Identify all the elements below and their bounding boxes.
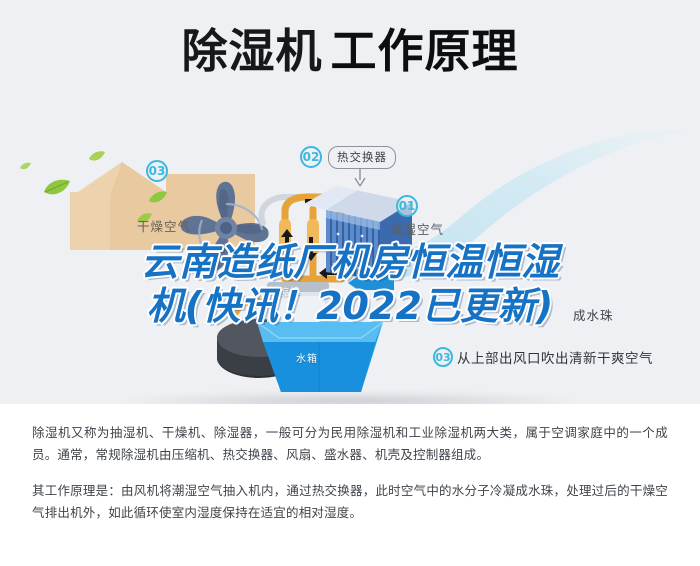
leaf-icon — [20, 162, 32, 171]
leaf-icon — [42, 178, 72, 198]
air-intake-arrow-icon — [348, 272, 394, 294]
step-badge-03-outlet: 03 — [433, 347, 453, 367]
step-badge-03-dry-air: 03 — [146, 160, 168, 182]
leaf-icon — [148, 190, 168, 205]
leaf-icon — [88, 150, 106, 163]
step-badge-01: 01 — [396, 195, 418, 217]
dry-air-label: 干燥空气 — [137, 216, 191, 235]
paragraph-definition: 除湿机又称为抽湿机、干燥机、除湿器，一般可分为民用除湿机和工业除湿机两大类，属于… — [32, 422, 668, 466]
page-title: 除湿机工作原理 — [0, 28, 700, 74]
step-badge-02: 02 — [300, 146, 322, 168]
moist-air-label: 潮湿空气 — [390, 219, 444, 238]
body-copy-section: 除湿机又称为抽湿机、干燥机、除湿器，一般可分为民用除湿机和工业除湿机两大类，属于… — [0, 404, 700, 566]
title-segment-principle: 工作原理 — [331, 24, 519, 78]
step3-description-label: 从上部出风口吹出清新干爽空气 — [457, 347, 653, 367]
water-tank-label: 水箱 — [296, 350, 318, 365]
title-segment-dehumidifier: 除湿机 — [182, 24, 323, 78]
callout-pointer-graphic — [352, 166, 368, 188]
illustration-panel: 除湿机工作原理 — [0, 0, 700, 404]
paragraph-working-principle: 其工作原理是：由风机将潮湿空气抽入机内，通过热交换器，此时空气中的水分子冷凝成水… — [32, 480, 668, 524]
condensation-label: 成水珠 — [573, 305, 614, 324]
heat-exchanger-callout: 热交换器 — [328, 146, 396, 169]
water-tank-graphic — [255, 318, 385, 398]
